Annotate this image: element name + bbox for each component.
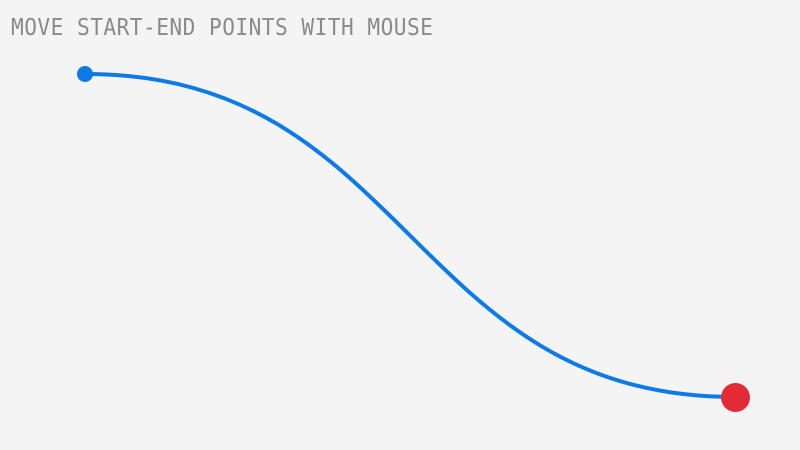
- bezier-curve-path[interactable]: [85, 74, 735, 397]
- page-title: MOVE START-END POINTS WITH MOUSE: [11, 14, 433, 42]
- curve-canvas: [0, 0, 800, 450]
- canvas-app: MOVE START-END POINTS WITH MOUSE: [0, 0, 800, 450]
- start-point-handle[interactable]: [77, 66, 93, 82]
- end-point-handle[interactable]: [721, 383, 750, 412]
